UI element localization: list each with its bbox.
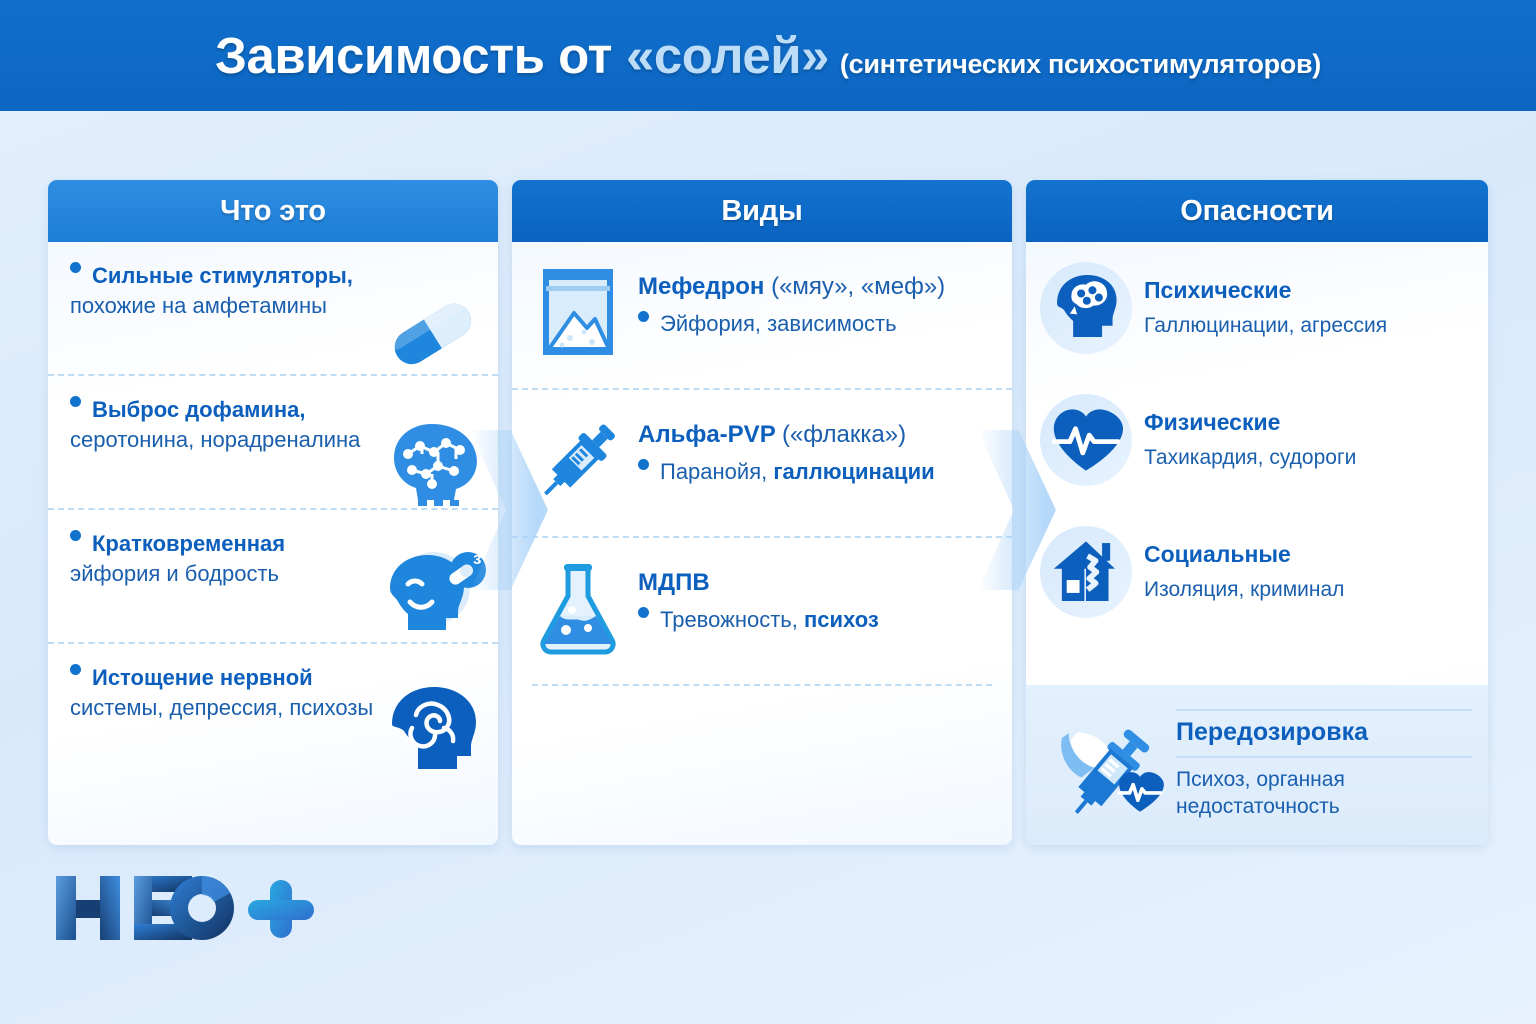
neo-plus-logo xyxy=(48,868,338,948)
danger-3-text: Социальные Изоляция, криминал xyxy=(1144,541,1472,603)
syringe-overdose-icon xyxy=(1042,710,1170,820)
banner-title-group: Зависимость от «солей» (синтетических пс… xyxy=(215,26,1321,85)
overdose-desc: Психоз, органная недостаточность xyxy=(1176,767,1472,821)
brain-network-icon xyxy=(372,414,492,506)
syringe-icon xyxy=(532,410,624,510)
type-3-effect: Тревожность, психоз xyxy=(638,607,992,633)
logo-plus-icon xyxy=(248,880,314,938)
type-1-text: Мефедрон («мяу», «меф») Эйфория, зависим… xyxy=(638,258,992,337)
bullet-icon xyxy=(70,530,81,541)
bullet-icon xyxy=(638,311,649,322)
bullet-icon xyxy=(638,459,649,470)
list-item: Психические Галлюцинации, агрессия xyxy=(1026,242,1488,374)
tangled-brain-head-icon xyxy=(372,682,492,774)
danger-3-icon-wrap xyxy=(1040,526,1132,618)
bullet-icon xyxy=(638,607,649,618)
card-types: Виды Мефедрон («мяу», «меф») xyxy=(512,180,1012,845)
powder-bag-icon xyxy=(532,262,624,362)
card-what-is-it: Что это Сильные стимуляторы, похожие на … xyxy=(48,180,498,845)
type-2-name: Альфа-PVP («флакка») xyxy=(638,420,992,450)
card-what-header: Что это xyxy=(48,180,498,242)
list-item: Альфа-PVP («флакка») Паранойя, галлюцина… xyxy=(512,388,1012,536)
danger-3-title: Социальные xyxy=(1144,541,1472,569)
type-3-text: МДПВ Тревожность, психоз xyxy=(638,554,992,633)
bullet-icon xyxy=(70,262,81,273)
card-types-header-label: Виды xyxy=(721,195,802,228)
section-divider xyxy=(532,684,992,686)
danger-2-text: Физические Тахикардия, судороги xyxy=(1144,409,1472,471)
card-dangers-body: Психические Галлюцинации, агрессия Физич… xyxy=(1026,242,1488,845)
danger-3-desc: Изоляция, криминал xyxy=(1144,577,1472,603)
logo-letter-o xyxy=(170,876,234,940)
danger-2-desc: Тахикардия, судороги xyxy=(1144,445,1472,471)
svg-text:з: з xyxy=(473,549,481,568)
list-item: Сильные стимуляторы, похожие на амфетами… xyxy=(48,242,498,374)
card-what-header-label: Что это xyxy=(220,195,326,228)
broken-house-icon xyxy=(1049,535,1123,609)
list-item: Мефедрон («мяу», «меф») Эйфория, зависим… xyxy=(512,242,1012,388)
type-1-name: Мефедрон («мяу», «меф») xyxy=(638,272,992,302)
overdose-icons xyxy=(1042,710,1170,820)
type-2-text: Альфа-PVP («флакка») Паранойя, галлюцина… xyxy=(638,406,992,485)
danger-2-icon-wrap xyxy=(1040,394,1132,486)
page-banner: Зависимость от «солей» (синтетических пс… xyxy=(0,0,1536,111)
flask-icon xyxy=(532,558,624,658)
page-title: Зависимость от xyxy=(215,26,612,85)
bullet-icon xyxy=(70,664,81,675)
overdose-section: Передозировка Психоз, органная недостато… xyxy=(1026,685,1488,845)
list-item: Истощение нервной системы, депрессия, пс… xyxy=(48,642,498,776)
page-subtitle: (синтетических психостимуляторов) xyxy=(840,49,1321,80)
head-brain-icon xyxy=(1049,271,1123,345)
list-item: Кратковременная эйфория и бодрость з xyxy=(48,508,498,642)
danger-1-desc: Галлюцинации, агрессия xyxy=(1144,313,1472,339)
danger-2-title: Физические xyxy=(1144,409,1472,437)
danger-1-title: Психические xyxy=(1144,277,1472,305)
list-item: Социальные Изоляция, криминал xyxy=(1026,506,1488,638)
card-dangers-header: Опасности xyxy=(1026,180,1488,242)
danger-1-text: Психические Галлюцинации, агрессия xyxy=(1144,277,1472,339)
logo-letter-n xyxy=(56,876,120,940)
type-1-effect: Эйфория, зависимость xyxy=(638,311,992,337)
page-title-quoted: «солей» xyxy=(626,26,829,85)
danger-1-icon-wrap xyxy=(1040,262,1132,354)
card-dangers: Опасности Психические Галлюцинации, агре… xyxy=(1026,180,1488,845)
card-what-body: Сильные стимуляторы, похожие на амфетами… xyxy=(48,242,498,845)
infographic-canvas: Зависимость от «солей» (синтетических пс… xyxy=(0,0,1536,1024)
list-item: МДПВ Тревожность, психоз xyxy=(512,536,1012,684)
card-dangers-header-label: Опасности xyxy=(1180,195,1334,228)
card-types-body: Мефедрон («мяу», «меф») Эйфория, зависим… xyxy=(512,242,1012,845)
card-types-header: Виды xyxy=(512,180,1012,242)
bullet-icon xyxy=(70,396,81,407)
type-3-name: МДПВ xyxy=(638,568,992,598)
list-item: Физические Тахикардия, судороги xyxy=(1026,374,1488,506)
overdose-text: Передозировка Психоз, органная недостато… xyxy=(1176,709,1472,821)
heart-pulse-icon xyxy=(1049,403,1123,477)
list-item: Выброс дофамина, серотонина, норадренали… xyxy=(48,374,498,508)
happy-head-icon: з xyxy=(372,548,492,640)
type-2-effect: Паранойя, галлюцинации xyxy=(638,459,992,485)
capsule-pill-icon xyxy=(372,280,492,372)
overdose-title: Передозировка xyxy=(1176,709,1472,758)
